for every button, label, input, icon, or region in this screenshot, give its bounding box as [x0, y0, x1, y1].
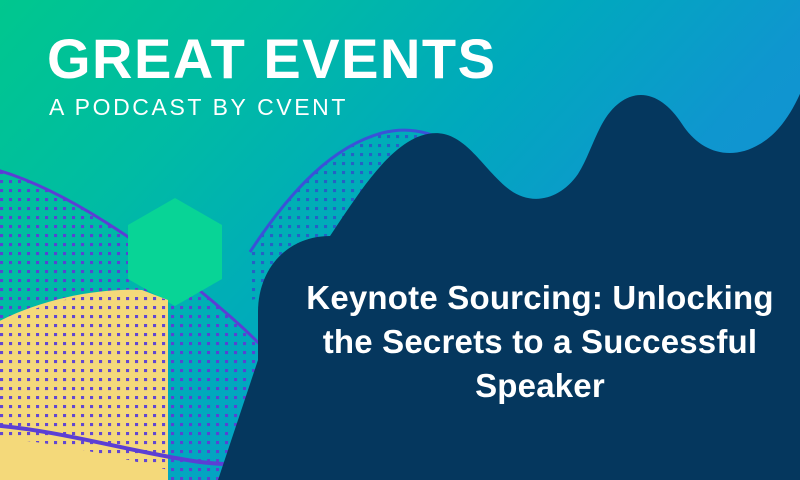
navy-title-panel — [258, 236, 800, 480]
background-artwork — [0, 0, 800, 480]
podcast-cover-artwork: GREAT EVENTS A PODCAST BY CVENT Keynote … — [0, 0, 800, 480]
